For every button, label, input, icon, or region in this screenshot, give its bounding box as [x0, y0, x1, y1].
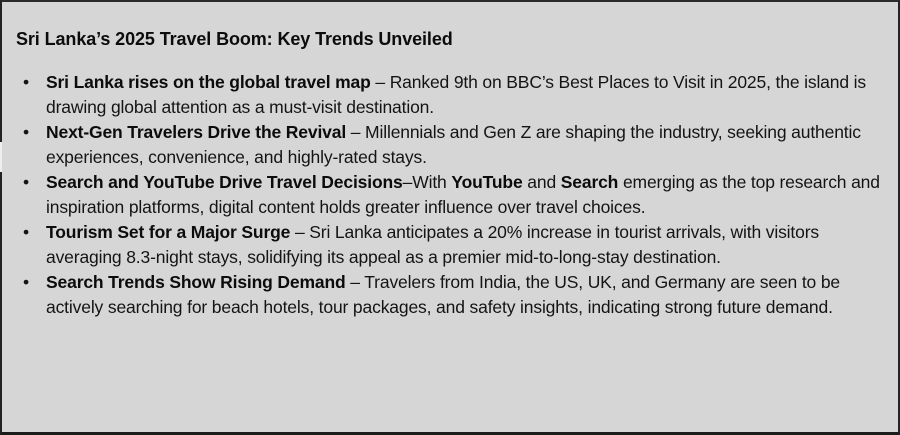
- list-item-lead: Search Trends Show Rising Demand: [46, 272, 346, 292]
- list-item-separator: –: [346, 122, 365, 142]
- list-item-separator: –: [371, 72, 390, 92]
- list-item-separator: –: [346, 272, 365, 292]
- list-item-separator: –: [290, 222, 309, 242]
- list-item-separator: –: [403, 172, 413, 192]
- list-item: • Sri Lanka rises on the global travel m…: [16, 70, 884, 120]
- bullet-marker-icon: •: [23, 70, 29, 95]
- document-body: Sri Lanka’s 2025 Travel Boom: Key Trends…: [2, 2, 898, 432]
- list-item-body-part-2: and: [523, 172, 561, 192]
- list-item-lead: Next-Gen Travelers Drive the Revival: [46, 122, 346, 142]
- list-item: • Search and YouTube Drive Travel Decisi…: [16, 170, 884, 220]
- list-item: • Search Trends Show Rising Demand – Tra…: [16, 270, 884, 320]
- bullet-marker-icon: •: [23, 120, 29, 145]
- bullet-marker-icon: •: [23, 220, 29, 245]
- page-title: Sri Lanka’s 2025 Travel Boom: Key Trends…: [16, 28, 884, 50]
- list-item-lead: Tourism Set for a Major Surge: [46, 222, 290, 242]
- list-item-lead: Search and YouTube Drive Travel Decision…: [46, 172, 403, 192]
- bullet-marker-icon: •: [23, 270, 29, 295]
- list-item-emphasis-search: Search: [561, 172, 618, 192]
- list-item-emphasis-youtube: YouTube: [451, 172, 522, 192]
- key-trends-list: • Sri Lanka rises on the global travel m…: [16, 70, 884, 320]
- bullet-marker-icon: •: [23, 170, 29, 195]
- list-item: • Tourism Set for a Major Surge – Sri La…: [16, 220, 884, 270]
- list-item-lead: Sri Lanka rises on the global travel map: [46, 72, 371, 92]
- list-item: • Next-Gen Travelers Drive the Revival –…: [16, 120, 884, 170]
- list-item-body-part-1: With: [412, 172, 451, 192]
- document-frame: Sri Lanka’s 2025 Travel Boom: Key Trends…: [0, 0, 900, 435]
